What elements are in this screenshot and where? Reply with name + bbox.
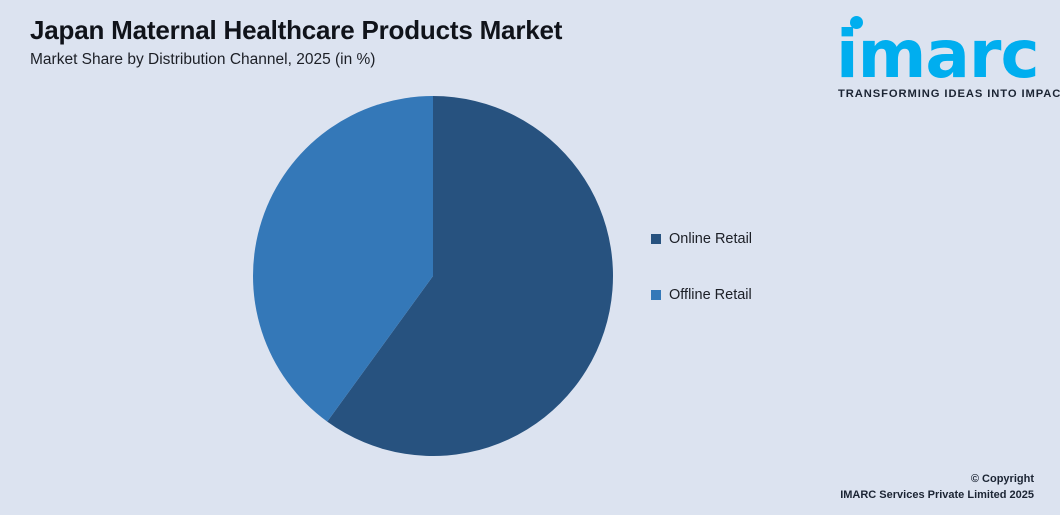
copyright-footer: © Copyright IMARC Services Private Limit…	[840, 471, 1034, 503]
logo-tagline: TRANSFORMING IDEAS INTO IMPACT	[838, 88, 1060, 100]
chart-legend: Online RetailOffline Retail	[651, 228, 752, 306]
legend-swatch-icon	[651, 234, 661, 244]
page-title: Japan Maternal Healthcare Products Marke…	[30, 15, 562, 46]
legend-item-label: Online Retail	[669, 231, 752, 247]
chart-subtitle: Market Share by Distribution Channel, 20…	[30, 51, 375, 69]
legend-item-label: Offline Retail	[669, 287, 752, 303]
logo-wordmark: imarc	[836, 22, 1039, 88]
company-line: IMARC Services Private Limited 2025	[840, 487, 1034, 503]
copyright-line: © Copyright	[840, 471, 1034, 487]
legend-item[interactable]: Offline Retail	[651, 284, 752, 306]
legend-swatch-icon	[651, 290, 661, 300]
legend-item[interactable]: Online Retail	[651, 228, 752, 250]
pie-chart	[253, 96, 613, 456]
pie-chart-svg	[253, 96, 613, 456]
imarc-logo: imarc TRANSFORMING IDEAS INTO IMPACT	[836, 10, 1048, 98]
chart-canvas: Japan Maternal Healthcare Products Marke…	[0, 0, 1060, 515]
